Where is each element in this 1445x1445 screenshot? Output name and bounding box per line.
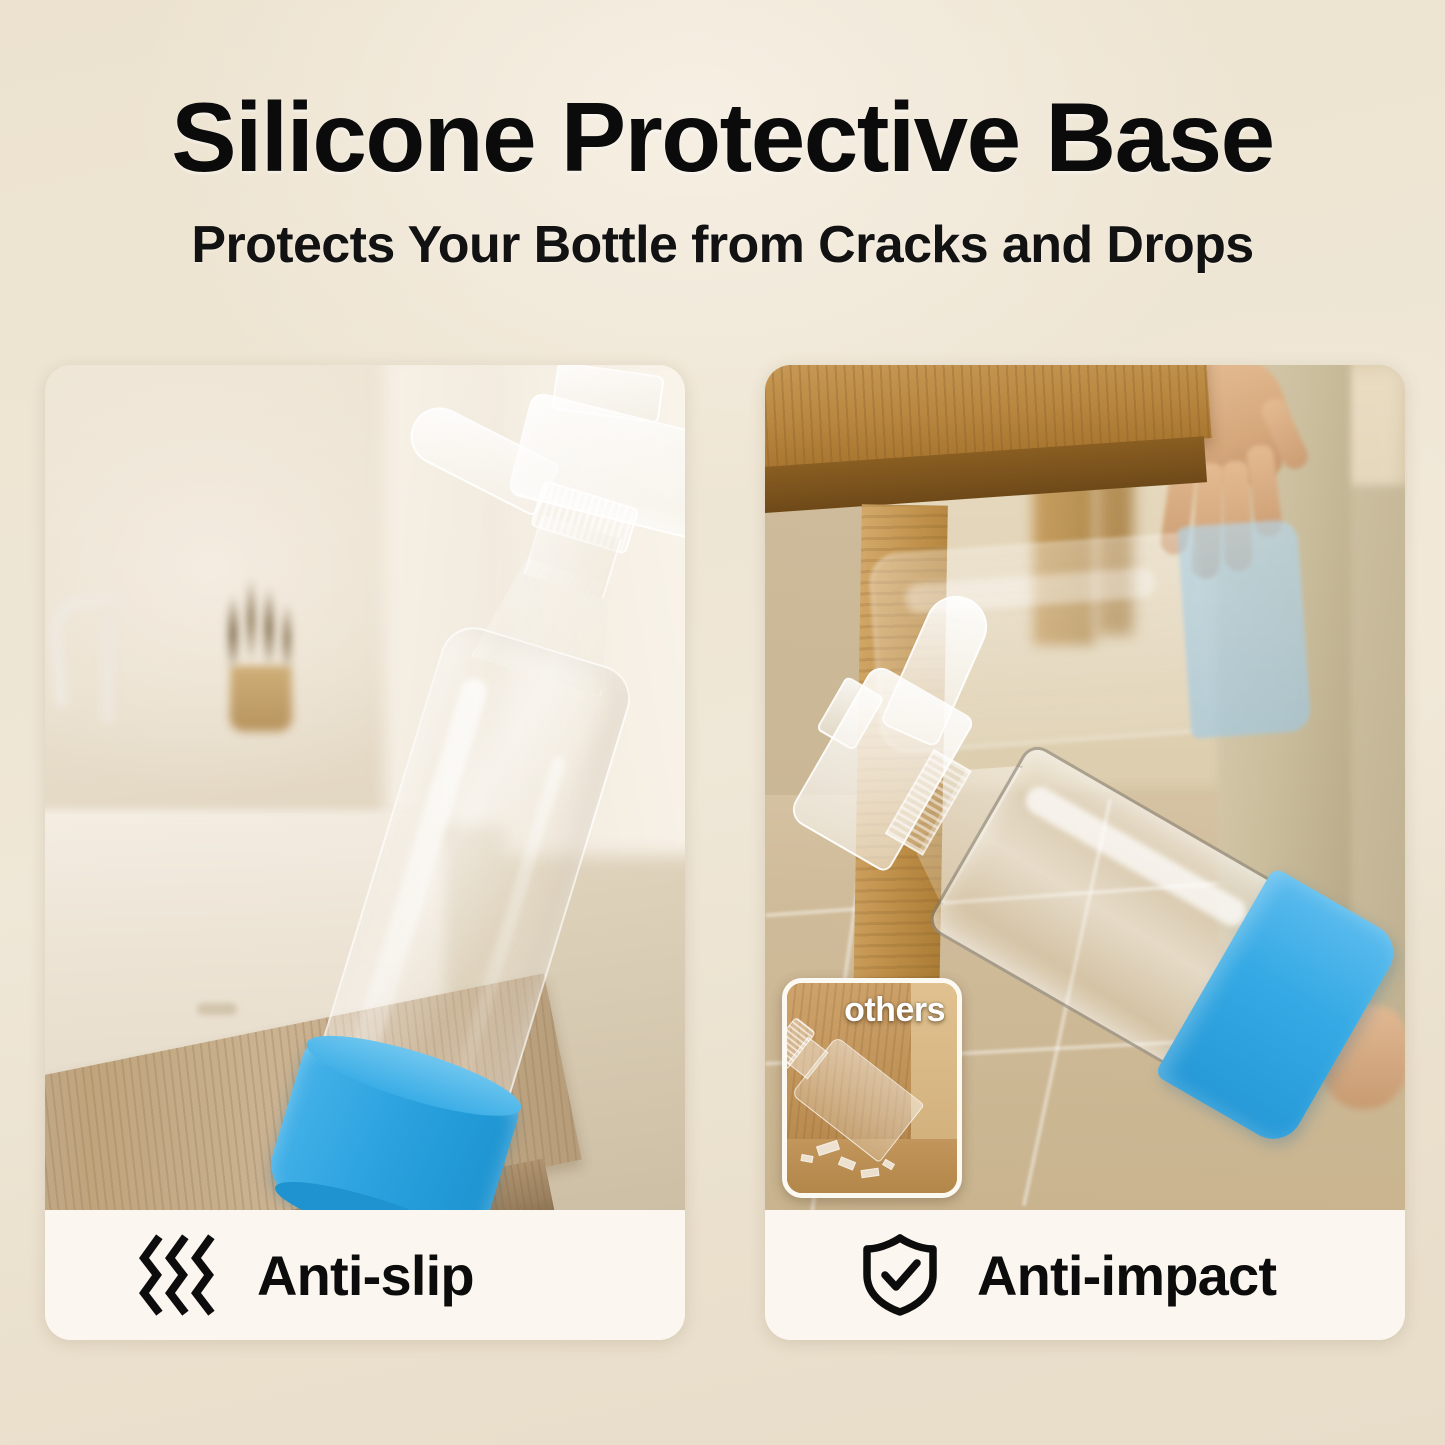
anti-slip-photo [45,365,685,1210]
caption-label: Anti-slip [257,1243,474,1308]
caption-label: Anti-impact [977,1243,1276,1308]
feature-panel-anti-slip[interactable]: Anti-slip [45,365,685,1340]
kitchen-scene-background [45,365,685,1210]
cabinet-handle [197,1003,237,1015]
page-title: Silicone Protective Base [0,88,1445,186]
plant-foliage [213,563,313,681]
ghost-silicone-base [1177,519,1311,739]
shield-check-icon [857,1232,943,1318]
header: Silicone Protective Base Protects Your B… [0,0,1445,355]
page-subtitle: Protects Your Bottle from Cracks and Dro… [0,214,1445,276]
caption-anti-slip: Anti-slip [45,1210,685,1340]
room-scene-background: others [765,365,1405,1210]
faucet-stem [101,615,114,723]
anti-impact-photo: others [765,365,1405,1210]
comparison-inset-others[interactable]: others [782,978,962,1198]
feature-panel-anti-impact[interactable]: others Anti-impact [765,365,1405,1340]
inset-label: others [844,991,945,1030]
zigzag-waves-icon [137,1232,223,1318]
plant-pot [229,666,292,732]
caption-anti-impact: Anti-impact [765,1210,1405,1340]
